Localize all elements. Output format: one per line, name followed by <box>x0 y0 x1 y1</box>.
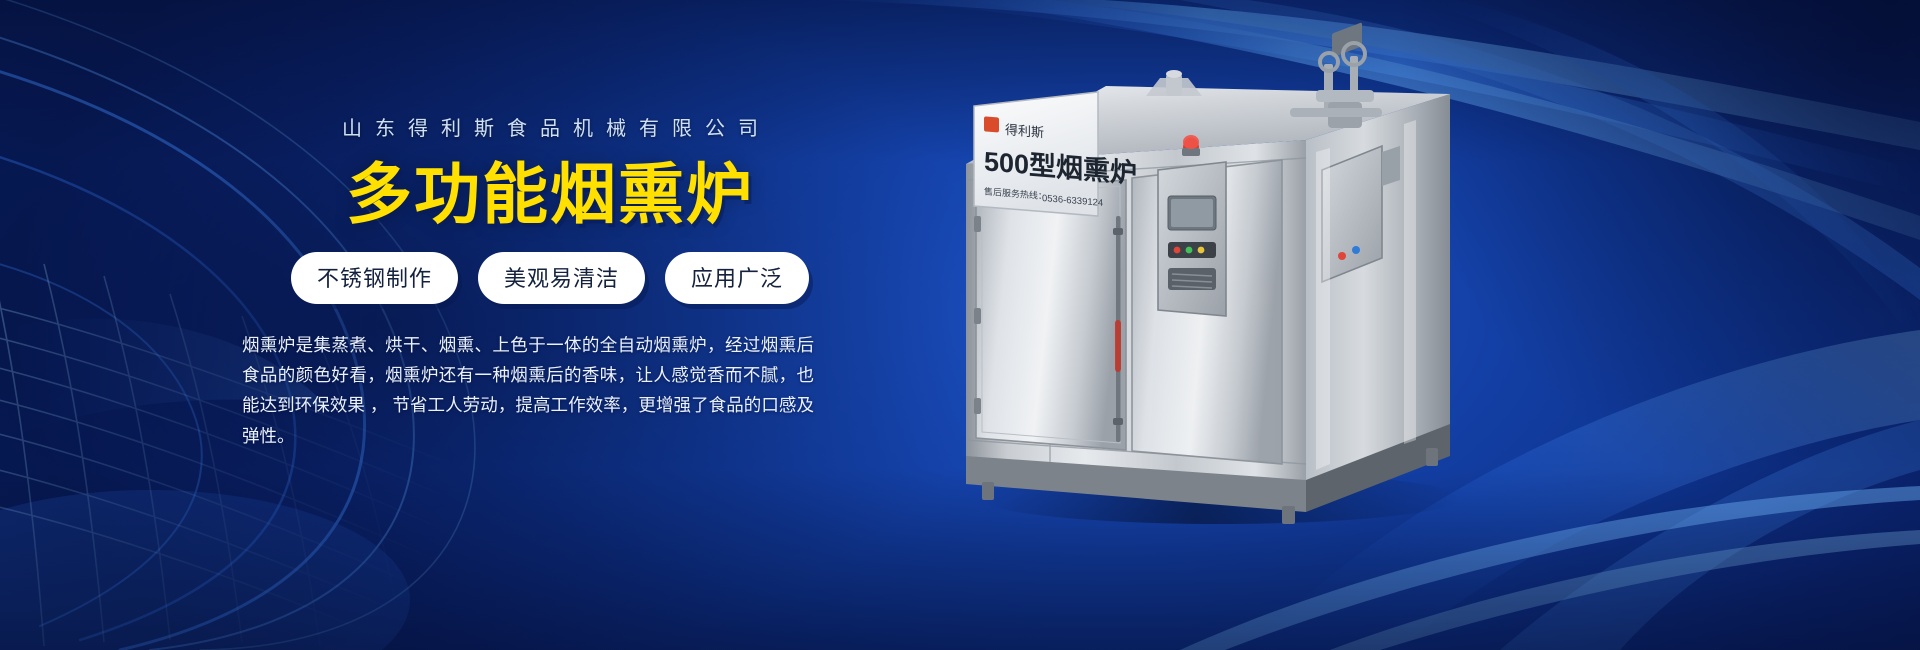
feature-pill-stainless[interactable]: 不锈钢制作 <box>291 252 458 304</box>
product-image-smokehouse-oven: 得利斯 500型烟熏炉 售后服务热线： 0536-6339124 <box>930 20 1550 540</box>
feature-pill-list: 不锈钢制作 美观易清洁 应用广泛 <box>240 252 860 304</box>
company-name: 山东得利斯食品机械有限公司 <box>240 112 860 141</box>
product-description: 烟熏炉是集蒸煮、烘干、烟熏、上色于一体的全自动烟熏炉，经过烟熏后食品的颜色好看，… <box>242 330 814 450</box>
hero-banner: 得利斯 500型烟熏炉 售后服务热线： 0536-6339124 山东得利斯食品… <box>0 0 1920 650</box>
feature-pill-easy-clean[interactable]: 美观易清洁 <box>478 252 645 304</box>
page-title: 多功能烟熏炉 <box>240 159 860 230</box>
hero-text-block: 山东得利斯食品机械有限公司 多功能烟熏炉 不锈钢制作 美观易清洁 应用广泛 烟熏… <box>240 112 860 451</box>
sign-brand-mark: 得利斯 <box>1005 122 1044 140</box>
feature-pill-wide-use[interactable]: 应用广泛 <box>665 252 809 304</box>
